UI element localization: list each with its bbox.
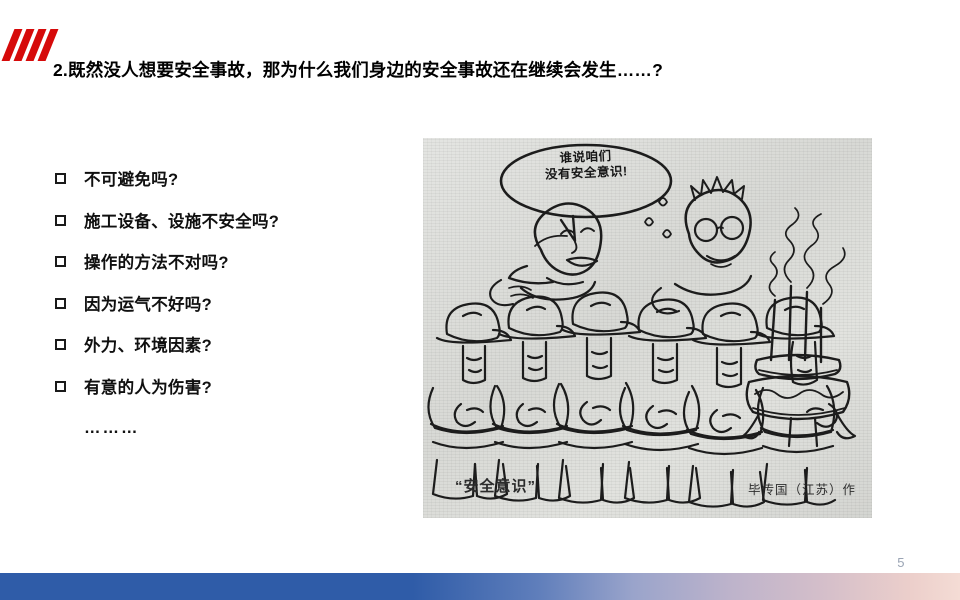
list-item-label: 施工设备、设施不安全吗? (84, 208, 279, 232)
list-item-label: 操作的方法不对吗? (84, 249, 229, 273)
footer-gradient-bar (0, 573, 960, 600)
cartoon-caption: “安全意识” (455, 475, 536, 496)
list-item: 不可避免吗? (55, 166, 405, 208)
square-bullet-icon (55, 256, 66, 267)
square-bullet-icon (55, 381, 66, 392)
list-item-label: 不可避免吗? (84, 166, 178, 190)
cartoon-illustration (423, 138, 872, 518)
red-slashes-logo (6, 29, 58, 61)
list-item-label: 外力、环境因素? (84, 332, 212, 356)
cartoon-artist-credit: 毕传国（江苏）作 (748, 479, 856, 498)
list-item: 有意的人为伤害? (55, 374, 405, 416)
square-bullet-icon (55, 339, 66, 350)
square-bullet-icon (55, 173, 66, 184)
page-number: 5 (897, 555, 905, 570)
cartoon-speech-bubble: 谁说咱们 没有安全意识! (510, 147, 661, 185)
list-item: 外力、环境因素? (55, 332, 405, 374)
list-item: 施工设备、设施不安全吗? (55, 208, 405, 250)
list-item: 因为运气不好吗? (55, 291, 405, 333)
list-trailing-ellipsis: ……… (55, 419, 405, 438)
square-bullet-icon (55, 215, 66, 226)
slide-canvas: 2.既然没人想要安全事故，那为什么我们身边的安全事故还在继续会发生……? 不可避… (0, 0, 960, 600)
list-item: 操作的方法不对吗? (55, 249, 405, 291)
list-item-label: 有意的人为伤害? (84, 374, 212, 398)
slide-title: 2.既然没人想要安全事故，那为什么我们身边的安全事故还在继续会发生……? (53, 59, 913, 82)
question-bullet-list: 不可避免吗? 施工设备、设施不安全吗? 操作的方法不对吗? 因为运气不好吗? 外… (55, 166, 405, 438)
square-bullet-icon (55, 298, 66, 309)
cartoon-image: 谁说咱们 没有安全意识! “安全意识” 毕传国（江苏）作 (423, 138, 872, 518)
list-item-label: 因为运气不好吗? (84, 291, 212, 315)
